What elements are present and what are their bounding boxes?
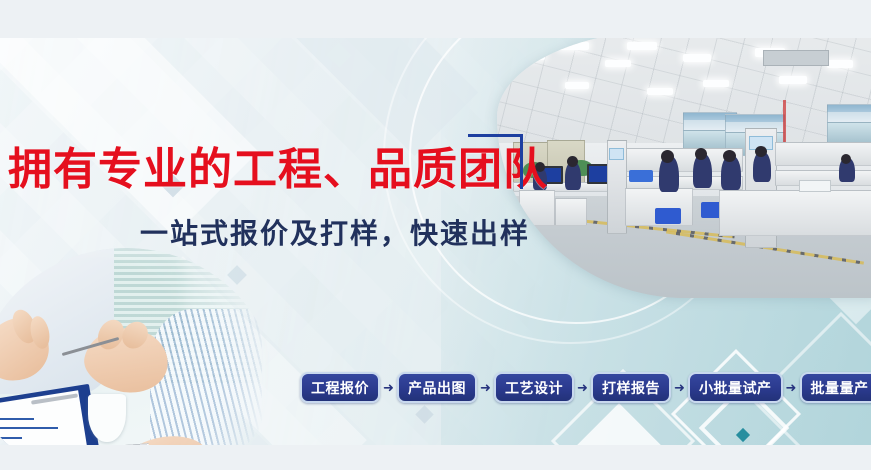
process-step-3[interactable]: 工艺设计 <box>494 372 574 403</box>
flow-arrow-icon: ➜ <box>380 381 397 394</box>
promotional-banner: 拥有专业的工程、品质团队 一站式报价及打样，快速出样 工程报价 ➜ 产品出图 ➜… <box>0 0 871 470</box>
flow-arrow-icon: ➜ <box>574 381 591 394</box>
business-meeting-photo <box>0 248 274 445</box>
process-step-6[interactable]: 批量量产 <box>800 372 871 403</box>
banner-body: 拥有专业的工程、品质团队 一站式报价及打样，快速出样 工程报价 ➜ 产品出图 ➜… <box>0 38 871 445</box>
banner-subheadline: 一站式报价及打样，快速出样 <box>140 220 530 248</box>
process-flow: 工程报价 ➜ 产品出图 ➜ 工艺设计 ➜ 打样报告 ➜ 小批量试产 ➜ 批量量产 <box>300 372 871 403</box>
flow-arrow-icon: ➜ <box>671 381 688 394</box>
top-spacer-strip <box>0 0 871 38</box>
corner-bracket-decoration <box>468 134 523 189</box>
process-step-5[interactable]: 小批量试产 <box>688 372 783 403</box>
flow-arrow-icon: ➜ <box>477 381 494 394</box>
factory-office-photo <box>497 38 871 298</box>
process-step-2[interactable]: 产品出图 <box>397 372 477 403</box>
flow-arrow-icon: ➜ <box>783 381 800 394</box>
process-step-1[interactable]: 工程报价 <box>300 372 380 403</box>
bottom-spacer-strip <box>0 445 871 470</box>
banner-headline: 拥有专业的工程、品质团队 <box>8 148 548 192</box>
process-step-4[interactable]: 打样报告 <box>591 372 671 403</box>
